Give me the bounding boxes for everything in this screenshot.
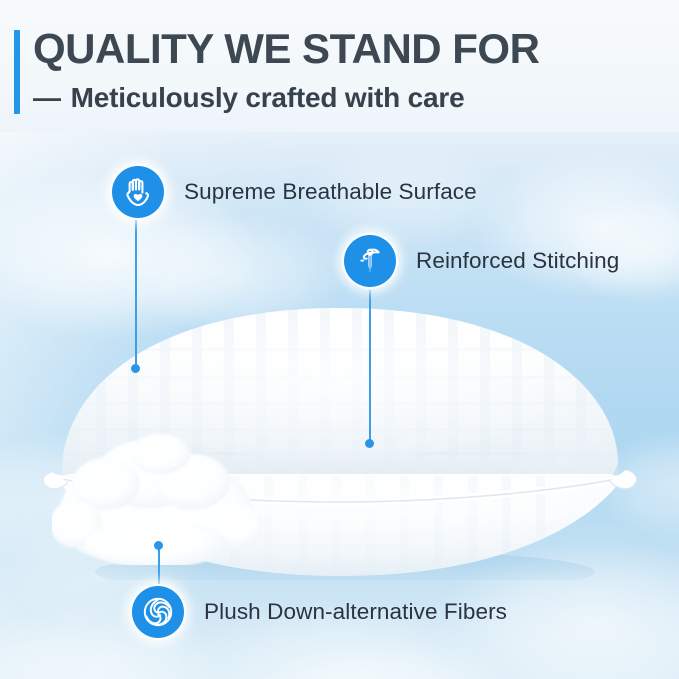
feature-reinforced-stitching[interactable]: Reinforced Stitching (342, 233, 619, 289)
subtitle-dash: — (33, 82, 63, 113)
feature-label-down-alternative-fibers: Plush Down-alternative Fibers (204, 599, 507, 625)
leader-line-fibers (158, 548, 160, 588)
subtitle-text: Meticulously crafted with care (71, 82, 465, 113)
fiber-swirl-icon-badge (130, 584, 186, 640)
leader-dot-fibers (154, 541, 163, 550)
leader-line-stitching (369, 290, 371, 443)
page-subtitle: — Meticulously crafted with care (33, 84, 464, 112)
hand-heart-icon-badge (110, 164, 166, 220)
feature-label-reinforced-stitching: Reinforced Stitching (416, 248, 619, 274)
hand-heart-icon (121, 175, 155, 209)
leader-line-breathable (135, 220, 137, 368)
feature-breathable-surface[interactable]: Supreme Breathable Surface (110, 164, 477, 220)
needle-thread-icon (353, 244, 387, 278)
page-title: QUALITY WE STAND FOR (33, 28, 539, 70)
product-pillow (0, 290, 679, 580)
feature-label-breathable-surface: Supreme Breathable Surface (184, 179, 477, 205)
feature-down-alternative-fibers[interactable]: Plush Down-alternative Fibers (130, 584, 507, 640)
leader-dot-breathable (131, 364, 140, 373)
fiber-swirl-icon (140, 594, 176, 630)
leader-dot-stitching (365, 439, 374, 448)
accent-bar (14, 30, 20, 114)
needle-thread-icon-badge (342, 233, 398, 289)
product-infographic: QUALITY WE STAND FOR — Meticulously craf… (0, 0, 679, 679)
